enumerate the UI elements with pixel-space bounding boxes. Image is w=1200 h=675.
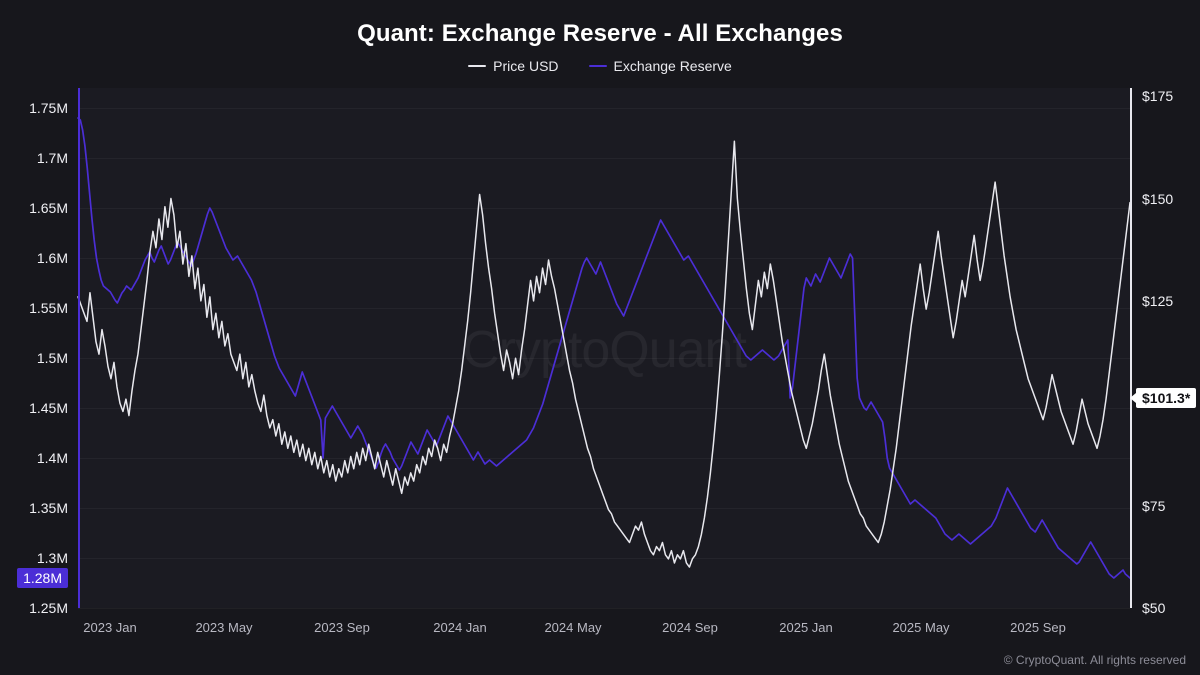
- series-line-exchange-reserve: [78, 118, 1130, 578]
- axis-left-tick-label: 1.5M: [37, 350, 68, 366]
- axis-x-tick-label: 2023 May: [195, 620, 252, 635]
- axis-x-tick-label: 2025 Jan: [779, 620, 833, 635]
- axis-right-tick-label: $50: [1142, 600, 1165, 616]
- axis-left-tick-label: 1.75M: [29, 100, 68, 116]
- axis-left-tick-label: 1.35M: [29, 500, 68, 516]
- legend-swatch-price-usd: [468, 65, 486, 67]
- axis-right-tick-label: $125: [1142, 293, 1173, 309]
- axis-left-spine: [78, 88, 80, 608]
- right-axis-value-badge: $101.3*: [1136, 388, 1196, 408]
- axis-x-tick-label: 2025 Sep: [1010, 620, 1066, 635]
- axis-x-tick-label: 2024 Jan: [433, 620, 487, 635]
- axis-left-tick-label: 1.25M: [29, 600, 68, 616]
- series-line-price-usd: [78, 141, 1130, 567]
- axis-left-tick-label: 1.65M: [29, 200, 68, 216]
- legend-item-exchange-reserve[interactable]: Exchange Reserve: [589, 58, 732, 74]
- axis-x-tick-label: 2023 Sep: [314, 620, 370, 635]
- chart-root: Quant: Exchange Reserve - All Exchanges …: [0, 0, 1200, 675]
- legend-label-exchange-reserve: Exchange Reserve: [614, 58, 732, 74]
- legend-item-price-usd[interactable]: Price USD: [468, 58, 558, 74]
- axis-x-tick-label: 2024 Sep: [662, 620, 718, 635]
- axis-right-tick-label: $150: [1142, 191, 1173, 207]
- gridline: [78, 608, 1130, 609]
- copyright-footer: © CryptoQuant. All rights reserved: [1004, 653, 1186, 667]
- axis-right-spine: [1130, 88, 1132, 608]
- axis-left-tick-label: 1.45M: [29, 400, 68, 416]
- axis-left-tick-label: 1.7M: [37, 150, 68, 166]
- axis-right-tick-label: $175: [1142, 88, 1173, 104]
- axis-x-tick-label: 2024 May: [544, 620, 601, 635]
- series-lines: [78, 88, 1130, 608]
- chart-legend: Price USD Exchange Reserve: [0, 58, 1200, 74]
- axis-x-tick-label: 2023 Jan: [83, 620, 137, 635]
- left-axis-value-badge: 1.28M: [17, 568, 68, 588]
- axis-left-tick-label: 1.4M: [37, 450, 68, 466]
- axis-left-tick-label: 1.55M: [29, 300, 68, 316]
- axis-left-tick-label: 1.3M: [37, 550, 68, 566]
- legend-label-price-usd: Price USD: [493, 58, 558, 74]
- axis-right-tick-label: $75: [1142, 498, 1165, 514]
- page-title: Quant: Exchange Reserve - All Exchanges: [0, 20, 1200, 48]
- axis-left-tick-label: 1.6M: [37, 250, 68, 266]
- legend-swatch-exchange-reserve: [589, 65, 607, 67]
- axis-x-tick-label: 2025 May: [892, 620, 949, 635]
- plot-area: CryptoQuant: [78, 88, 1130, 608]
